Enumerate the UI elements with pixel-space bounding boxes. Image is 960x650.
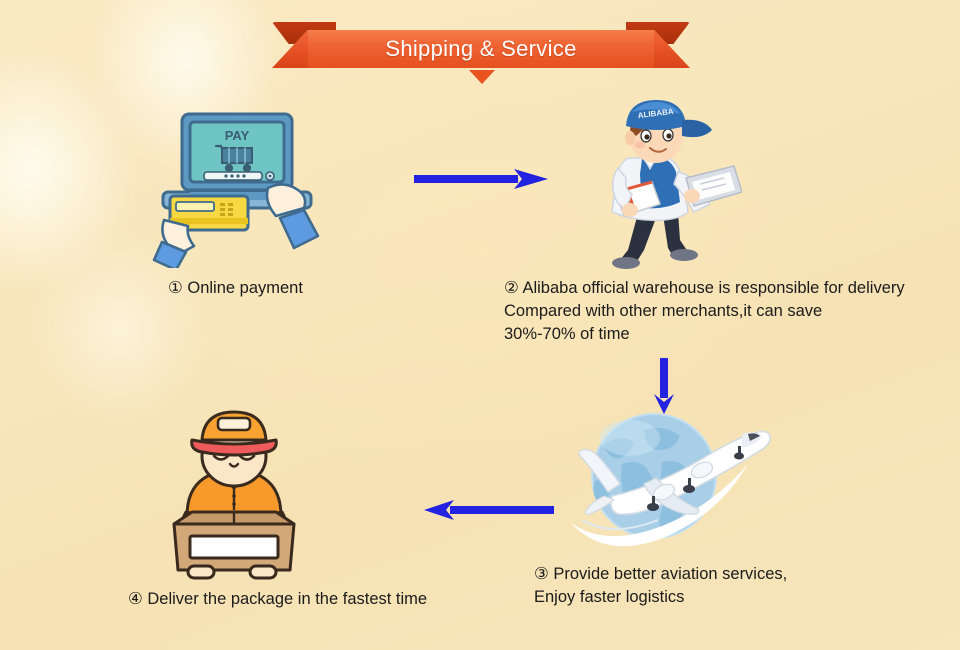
worker-with-box-illustration [158, 402, 310, 582]
step-3-label: ③ Provide better aviation services, Enjo… [534, 563, 787, 609]
step-4-label: ④ Deliver the package in the fastest tim… [128, 588, 427, 611]
delivery-courier-illustration: ALIBABA [582, 100, 742, 272]
banner-ribbon: Shipping & Service [272, 22, 690, 68]
left-hand [154, 220, 194, 268]
orange-cap-icon [192, 412, 277, 455]
arrow-right-top-icon [414, 165, 550, 193]
laptop-online-payment-illustration: PAY [150, 108, 330, 268]
step-2-label: ② Alibaba official warehouse is responsi… [504, 277, 905, 346]
globe-airplane-illustration [552, 404, 784, 556]
step-1-label: ① Online payment [168, 277, 303, 300]
ribbon-inner: Shipping & Service [308, 30, 654, 68]
shipping-service-infographic: Shipping & Service PAY [0, 0, 960, 650]
triangle-down-icon [469, 70, 495, 84]
cardboard-box-icon [174, 512, 294, 578]
laptop-screen-pay-text: PAY [225, 128, 250, 143]
arrow-left-bottom-icon [424, 496, 554, 524]
page-title: Shipping & Service [385, 36, 576, 62]
